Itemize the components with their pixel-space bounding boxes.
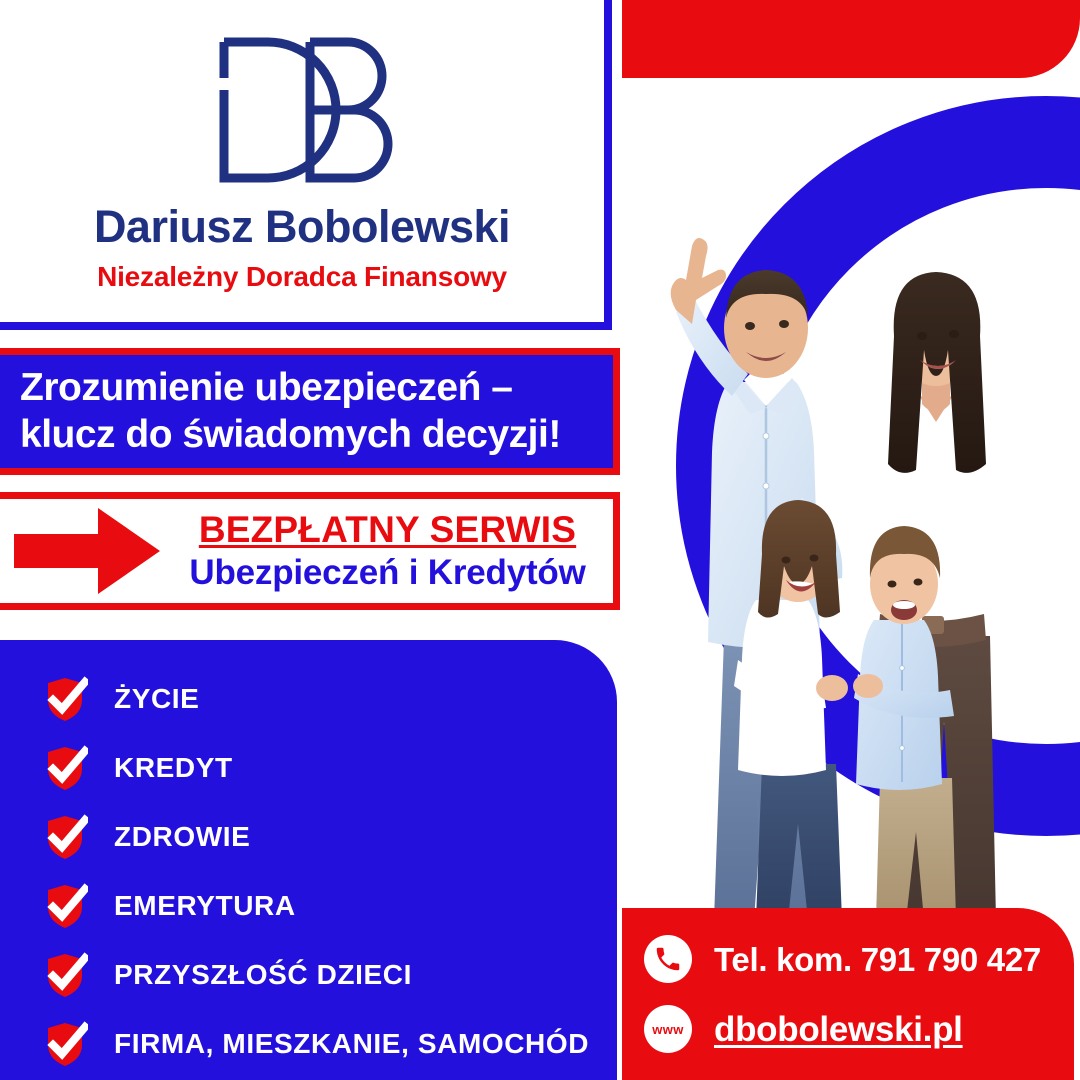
arrow-right-icon <box>14 508 160 594</box>
www-badge-label: www <box>652 1023 684 1036</box>
contact-phone-row[interactable]: Tel. kom. 791 790 427 <box>644 924 1074 994</box>
phone-icon <box>644 935 692 983</box>
list-item: ŻYCIE <box>0 664 617 733</box>
list-item: EMERYTURA <box>0 871 617 940</box>
logo-card: Dariusz Bobolewski Niezależny Doradca Fi… <box>0 0 612 330</box>
service-text-group: BEZPŁATNY SERWIS Ubezpieczeń i Kredytów <box>170 510 613 592</box>
shield-check-icon <box>42 883 88 929</box>
website-url-link[interactable]: dbobolewski.pl <box>714 1012 963 1047</box>
headline-line-1: Zrozumienie ubezpieczeń – <box>20 365 613 411</box>
service-banner: BEZPŁATNY SERWIS Ubezpieczeń i Kredytów <box>0 492 620 610</box>
shield-check-icon <box>42 745 88 791</box>
shield-check-icon <box>42 1021 88 1067</box>
logo-name: Dariusz Bobolewski <box>94 204 510 249</box>
www-icon: www <box>644 1005 692 1053</box>
contact-footer: Tel. kom. 791 790 427 www dbobolewski.pl <box>622 908 1074 1080</box>
headline-line-2: klucz do świadomych decyzji! <box>20 412 613 458</box>
list-item-label: KREDYT <box>114 754 233 782</box>
list-item-label: PRZYSZŁOŚĆ DZIECI <box>114 961 412 989</box>
background-red-top-block <box>622 0 1080 78</box>
list-item: KREDYT <box>0 733 617 802</box>
db-monogram-logo <box>198 34 406 186</box>
checklist-panel: ŻYCIE KREDYT ZDROWIE EMERYTURA <box>0 640 617 1080</box>
shield-check-icon <box>42 952 88 998</box>
family-photo-illustration <box>636 168 1056 920</box>
list-item: FIRMA, MIESZKANIE, SAMOCHÓD <box>0 1009 617 1078</box>
service-title: BEZPŁATNY SERWIS <box>199 510 576 550</box>
headline-banner: Zrozumienie ubezpieczeń – klucz do świad… <box>0 348 620 475</box>
list-item-label: FIRMA, MIESZKANIE, SAMOCHÓD <box>114 1030 589 1058</box>
list-item: PRZYSZŁOŚĆ DZIECI <box>0 940 617 1009</box>
list-item: ZDROWIE <box>0 802 617 871</box>
list-item-label: EMERYTURA <box>114 892 296 920</box>
logo-tagline: Niezależny Doradca Finansowy <box>97 263 507 291</box>
poster-canvas: Dariusz Bobolewski Niezależny Doradca Fi… <box>0 0 1080 1080</box>
service-subtitle: Ubezpieczeń i Kredytów <box>189 553 585 592</box>
shield-check-icon <box>42 814 88 860</box>
list-item-label: ŻYCIE <box>114 685 199 713</box>
contact-website-row[interactable]: www dbobolewski.pl <box>644 994 1074 1064</box>
shield-check-icon <box>42 676 88 722</box>
family-photo <box>636 168 1056 920</box>
list-item-label: ZDROWIE <box>114 823 250 851</box>
phone-number-text: Tel. kom. 791 790 427 <box>714 943 1041 976</box>
